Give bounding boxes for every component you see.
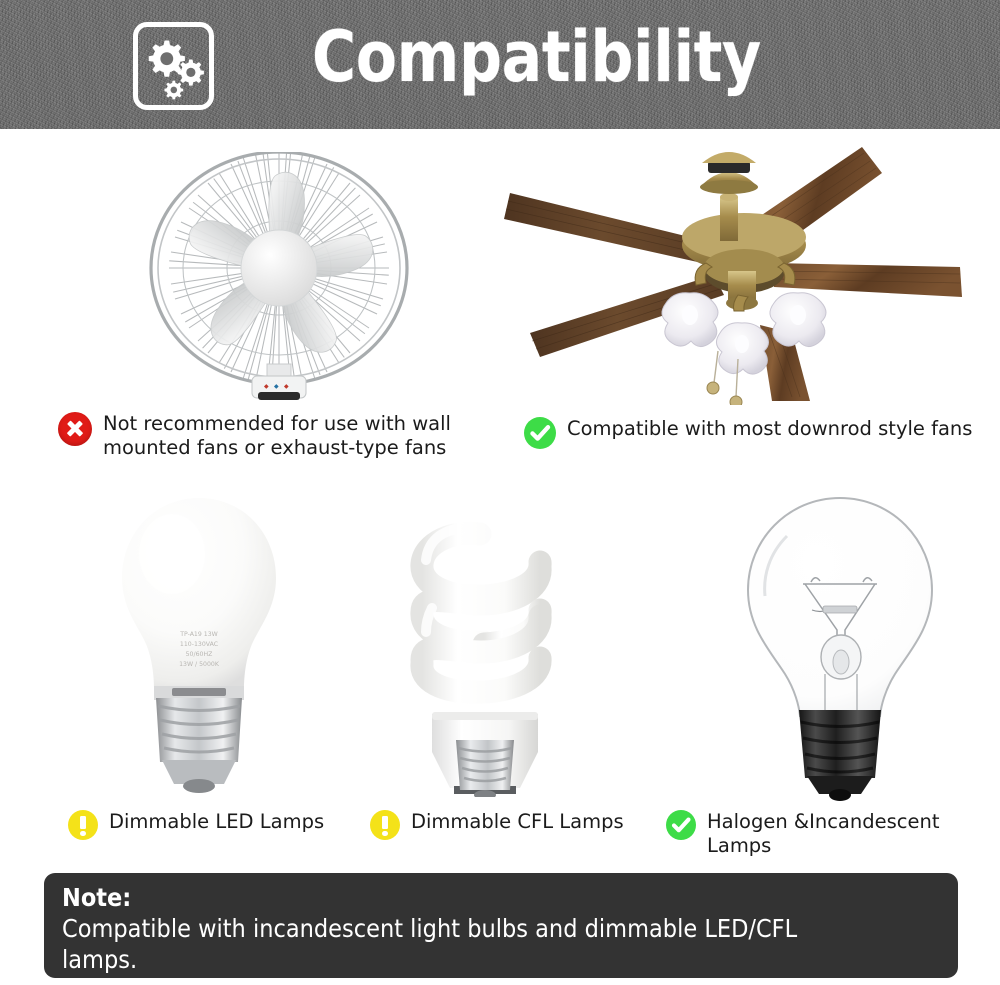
page-title: Compatibility <box>312 16 761 98</box>
incandescent-bulb-image <box>733 492 948 804</box>
red-x-icon <box>58 412 92 446</box>
green-check-icon <box>666 810 696 840</box>
svg-text:110-130VAC: 110-130VAC <box>180 641 218 648</box>
caption-ceiling-fan-text: Compatible with most downrod style fans <box>567 417 972 441</box>
wall-mounted-fan-image: ◆ ◆ ◆ <box>136 152 426 400</box>
note-line-2: other LED/CFLlamps only support ON and O… <box>62 975 852 985</box>
svg-text:◆: ◆ <box>274 383 279 390</box>
note-title: Note: <box>62 883 852 913</box>
compatibility-infographic: Compatibility <box>0 0 1000 985</box>
caption-wall-fan-text: Not recommended for use with wall mounte… <box>103 412 451 459</box>
yellow-warning-icon <box>370 810 400 840</box>
svg-text:50/60HZ: 50/60HZ <box>186 651 213 658</box>
yellow-warning-icon <box>68 810 98 840</box>
caption-wall-fan: Not recommended for use with wall mounte… <box>58 412 478 459</box>
caption-led-lamp: Dimmable LED Lamps <box>68 810 324 840</box>
caption-ceiling-fan: Compatible with most downrod style fans <box>524 417 994 449</box>
gears-icon <box>133 22 214 110</box>
led-bulb-image: TP-A19 13W 110-130VAC 50/60HZ 13W / 5000… <box>104 492 294 797</box>
caption-cfl-lamp: Dimmable CFL Lamps <box>370 810 624 840</box>
svg-text:◆: ◆ <box>264 383 269 390</box>
caption-incandescent-lamp-text: Halogen &Incandescent Lamps <box>707 810 1000 857</box>
caption-led-lamp-text: Dimmable LED Lamps <box>109 810 324 834</box>
svg-text:◆: ◆ <box>284 383 289 390</box>
note-line-1: Compatible with incandescent light bulbs… <box>62 913 852 975</box>
note-box: Note: Compatible with incandescent light… <box>44 873 958 978</box>
svg-text:13W / 5000K: 13W / 5000K <box>179 661 220 668</box>
header-banner: Compatibility <box>0 0 1000 129</box>
caption-incandescent-lamp: Halogen &Incandescent Lamps <box>666 810 1000 857</box>
cfl-spiral-bulb-image <box>392 512 578 797</box>
downrod-ceiling-fan-image <box>492 145 992 405</box>
caption-cfl-lamp-text: Dimmable CFL Lamps <box>411 810 624 834</box>
svg-text:TP-A19 13W: TP-A19 13W <box>179 631 218 638</box>
green-check-icon <box>524 417 556 449</box>
